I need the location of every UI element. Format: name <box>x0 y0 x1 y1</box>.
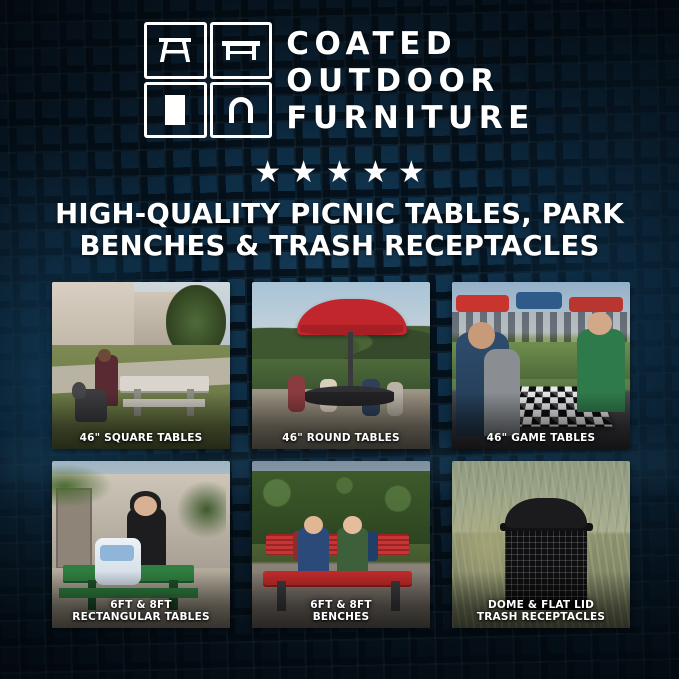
tile-trash-receptacles[interactable]: DOME & FLAT LID TRASH RECEPTACLES <box>452 461 630 628</box>
tile-caption: 46" ROUND TABLES <box>252 428 430 449</box>
star-icon-1: ★ <box>254 158 281 188</box>
product-banner: COATED OUTDOOR FURNITURE ★ ★ ★ ★ ★ HIGH-… <box>0 0 679 679</box>
product-tile-grid: 46" SQUARE TABLES 46" ROUND TABLES <box>52 282 630 628</box>
headline-line-1: HIGH-QUALITY PICNIC TABLES, PARK <box>55 198 624 230</box>
brand-line-3: FURNITURE <box>286 100 535 136</box>
star-icon-4: ★ <box>362 158 389 188</box>
star-icon-5: ★ <box>398 158 425 188</box>
tile-caption-line-2: RECTANGULAR TABLES <box>55 611 227 623</box>
tile-caption-line-1: 46" SQUARE TABLES <box>55 432 227 444</box>
headline: HIGH-QUALITY PICNIC TABLES, PARK BENCHES… <box>0 198 679 262</box>
tile-game-tables[interactable]: 46" GAME TABLES <box>452 282 630 449</box>
tile-caption: 6FT & 8FT RECTANGULAR TABLES <box>52 595 230 628</box>
tile-caption: 6FT & 8FT BENCHES <box>252 595 430 628</box>
tile-caption: 46" SQUARE TABLES <box>52 428 230 449</box>
trash-can-icon <box>144 82 207 139</box>
brand-line-2: OUTDOOR <box>286 63 535 99</box>
tile-caption: 46" GAME TABLES <box>452 428 630 449</box>
arch-bench-icon <box>210 82 273 139</box>
tile-rectangular-tables[interactable]: 6FT & 8FT RECTANGULAR TABLES <box>52 461 230 628</box>
star-icon-2: ★ <box>290 158 317 188</box>
logo-icon-grid <box>144 22 272 138</box>
tile-benches[interactable]: 6FT & 8FT BENCHES <box>252 461 430 628</box>
banner-content: COATED OUTDOOR FURNITURE ★ ★ ★ ★ ★ HIGH-… <box>0 0 679 679</box>
picnic-table-icon <box>144 22 207 79</box>
tile-caption-line-1: 46" GAME TABLES <box>455 432 627 444</box>
star-icon-3: ★ <box>326 158 353 188</box>
tile-caption-line-1: 6FT & 8FT <box>255 599 427 611</box>
tile-caption-line-1: DOME & FLAT LID <box>455 599 627 611</box>
brand-logo: COATED OUTDOOR FURNITURE <box>0 22 679 138</box>
tile-caption-line-2: BENCHES <box>255 611 427 623</box>
tile-caption-line-1: 6FT & 8FT <box>55 599 227 611</box>
bench-icon <box>210 22 273 79</box>
headline-line-2: BENCHES & TRASH RECEPTACLES <box>0 230 679 262</box>
brand-wordmark: COATED OUTDOOR FURNITURE <box>286 24 535 136</box>
tile-caption: DOME & FLAT LID TRASH RECEPTACLES <box>452 595 630 628</box>
star-rating: ★ ★ ★ ★ ★ <box>0 158 679 188</box>
tile-round-tables[interactable]: 46" ROUND TABLES <box>252 282 430 449</box>
tile-caption-line-1: 46" ROUND TABLES <box>255 432 427 444</box>
tile-square-tables[interactable]: 46" SQUARE TABLES <box>52 282 230 449</box>
tile-caption-line-2: TRASH RECEPTACLES <box>455 611 627 623</box>
brand-line-1: COATED <box>286 26 535 62</box>
